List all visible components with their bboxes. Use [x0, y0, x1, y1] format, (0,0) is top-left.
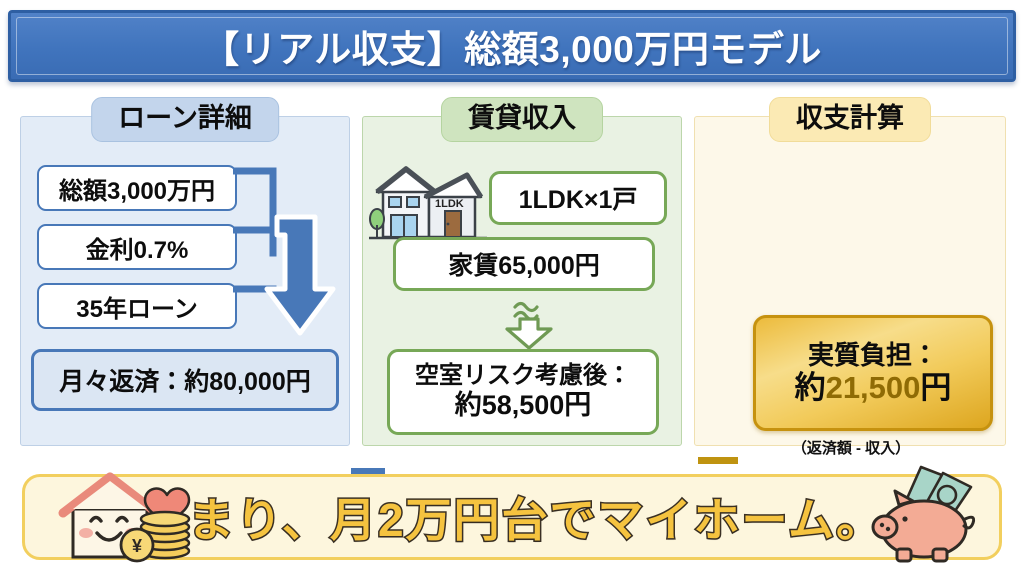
- panel-header-calc: 収支計算: [769, 97, 931, 142]
- loan-item-interest-rate: 金利0.7%: [37, 224, 237, 270]
- svg-text:¥: ¥: [132, 536, 142, 556]
- rental-after-line2: 約58,500円: [455, 390, 592, 422]
- house-icon: 1LDK: [369, 161, 487, 247]
- piggy-bank-icon: [861, 461, 991, 563]
- panel-loan-details: ローン詳細 総額3,000万円 金利0.7% 35年ローン 月々返済：約80,0…: [20, 116, 350, 446]
- bracket-arrow-icon: [233, 157, 351, 347]
- net-burden-value: 約21,500円: [795, 370, 952, 406]
- net-burden-amount: 21,500: [826, 370, 921, 405]
- rental-after-line1: 空室リスク考慮後：: [415, 362, 631, 390]
- summary-banner: ¥ つまり、月2万円台でマイホーム。: [22, 474, 1002, 560]
- calc-formula-caption: （返済額 - 収入）: [695, 437, 1007, 458]
- down-arrow-decrease-icon: [501, 295, 559, 351]
- loan-item-total-amount: 総額3,000万円: [37, 165, 237, 211]
- rental-fee-box: 家賃65,000円: [393, 237, 655, 291]
- net-burden-label: 実質負担：: [808, 340, 938, 370]
- rental-after-vacancy-box: 空室リスク考慮後： 約58,500円: [387, 349, 659, 435]
- net-burden-result-box: 実質負担： 約21,500円: [753, 315, 993, 431]
- svg-text:1LDK: 1LDK: [435, 198, 464, 210]
- panel-rental-income: 賃貸収入 1LDK: [362, 116, 682, 446]
- panel-header-rent: 賃貸収入: [441, 97, 603, 142]
- panel-header-loan: ローン詳細: [91, 97, 279, 142]
- title-banner: 【リアル収支】総額3,000万円モデル: [8, 10, 1016, 82]
- net-burden-suffix: 円: [920, 370, 951, 405]
- page-title: 【リアル収支】総額3,000万円モデル: [202, 19, 822, 73]
- loan-monthly-payment-result: 月々返済：約80,000円: [31, 349, 339, 411]
- panel-balance-calculation: 収支計算 実質負担： 約21,500円 （返済額 - 収入）: [694, 116, 1006, 446]
- happy-house-coins-icon: ¥: [55, 465, 240, 563]
- panels-row: ローン詳細 総額3,000万円 金利0.7% 35年ローン 月々返済：約80,0…: [0, 92, 1024, 462]
- loan-item-term: 35年ローン: [37, 283, 237, 329]
- rental-unit-box: 1LDK×1戸: [489, 171, 667, 225]
- net-burden-prefix: 約: [795, 370, 826, 405]
